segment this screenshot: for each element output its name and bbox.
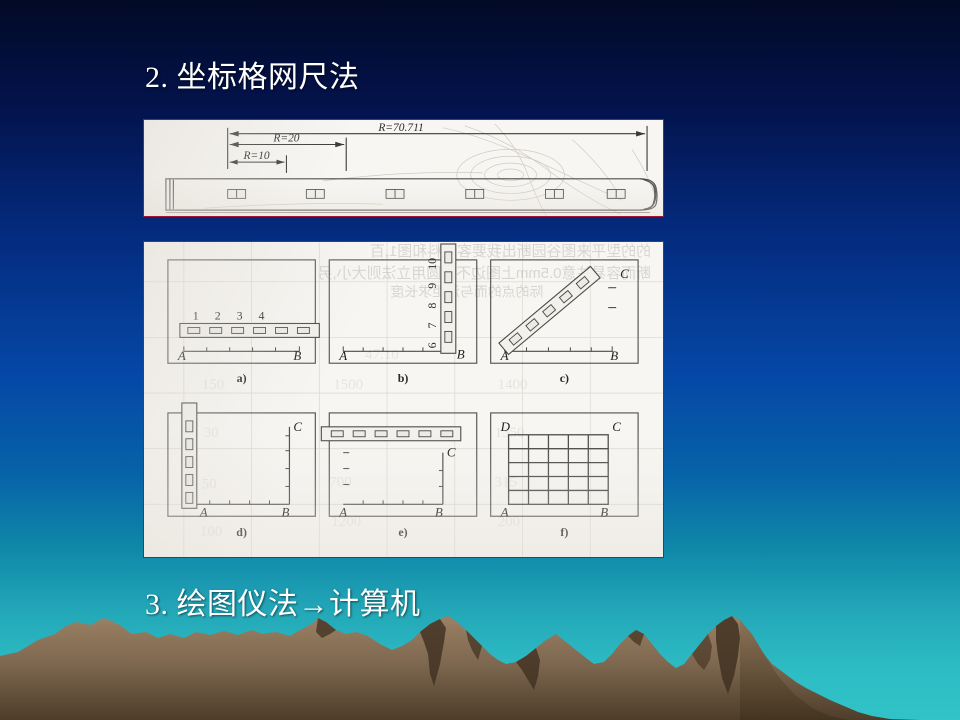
svg-text:C: C — [612, 419, 621, 434]
page-title-coordinate-grid-ruler: 2. 坐标格网尺法 — [145, 52, 360, 96]
svg-text:1500: 1500 — [333, 377, 363, 393]
svg-text:c): c) — [560, 371, 569, 385]
svg-text:B: B — [293, 348, 301, 363]
svg-text:A: A — [177, 348, 186, 363]
svg-text:2: 2 — [215, 309, 221, 323]
svg-text:3: 3 — [237, 309, 243, 323]
svg-text:7: 7 — [425, 322, 439, 328]
svg-text:150: 150 — [202, 377, 224, 393]
svg-text:b): b) — [398, 371, 409, 385]
svg-text:R=20: R=20 — [272, 133, 300, 145]
figure-grid-drawing-steps[interactable]: 的的型平来图谷园断出我要客证料和图1,百 断而容易注意0.5mm上图边不二圆用立… — [143, 241, 664, 558]
svg-text:f): f) — [560, 525, 568, 539]
svg-text:700: 700 — [329, 474, 351, 490]
svg-text:B: B — [281, 504, 289, 519]
svg-text:a): a) — [237, 371, 247, 385]
svg-text:D: D — [500, 419, 511, 434]
svg-text:1400: 1400 — [498, 377, 528, 393]
svg-text:A: A — [500, 348, 509, 363]
svg-text:100: 100 — [200, 524, 222, 540]
svg-text:1: 1 — [193, 309, 199, 323]
svg-text:A: A — [338, 348, 347, 363]
svg-text:B: B — [610, 348, 618, 363]
ruler-drawing: R=70.711 R=20 R=10 — [144, 120, 663, 216]
svg-text:断而容易注意0.5mm上图边不二圆用立法则大小,另: 断而容易注意0.5mm上图边不二圆用立法则大小,另 — [318, 264, 651, 282]
svg-text:B: B — [600, 504, 608, 519]
mountain-silhouette — [0, 590, 960, 720]
panels-drawing: 的的型平来图谷园断出我要客证料和图1,百 断而容易注意0.5mm上图边不二圆用立… — [144, 242, 663, 557]
svg-text:B: B — [457, 346, 465, 361]
svg-text:8: 8 — [425, 303, 439, 309]
svg-text:C: C — [447, 445, 456, 460]
svg-text:50: 50 — [202, 476, 217, 492]
svg-text:R=10: R=10 — [242, 150, 270, 162]
svg-text:B: B — [435, 504, 443, 519]
svg-text:C: C — [620, 266, 629, 281]
svg-text:47.10: 47.10 — [365, 347, 399, 363]
svg-text:e): e) — [398, 525, 407, 539]
svg-text:C: C — [293, 419, 302, 434]
svg-text:10: 10 — [425, 258, 439, 270]
svg-text:R=70.711: R=70.711 — [377, 122, 423, 134]
figure-coordinate-scale-ruler[interactable]: R=70.711 R=20 R=10 — [143, 119, 664, 217]
page-title-plotter-method: 3. 绘图仪法→计算机 — [145, 579, 421, 623]
svg-text:d): d) — [236, 525, 247, 539]
svg-text:A: A — [199, 504, 208, 519]
svg-text:际的点的而与测距求长度: 际的点的而与测距求长度 — [390, 284, 543, 300]
svg-text:4: 4 — [259, 309, 265, 323]
svg-text:6: 6 — [425, 342, 439, 348]
svg-text:A: A — [338, 504, 347, 519]
svg-text:A: A — [500, 504, 509, 519]
svg-text:的的型平来图谷园断出我要客证料和图1,百: 的的型平来图谷园断出我要客证料和图1,百 — [370, 243, 651, 260]
svg-text:9: 9 — [425, 283, 439, 289]
svg-text:30: 30 — [204, 425, 219, 441]
slide-canvas: 2. 坐标格网尺法 — [0, 0, 960, 720]
